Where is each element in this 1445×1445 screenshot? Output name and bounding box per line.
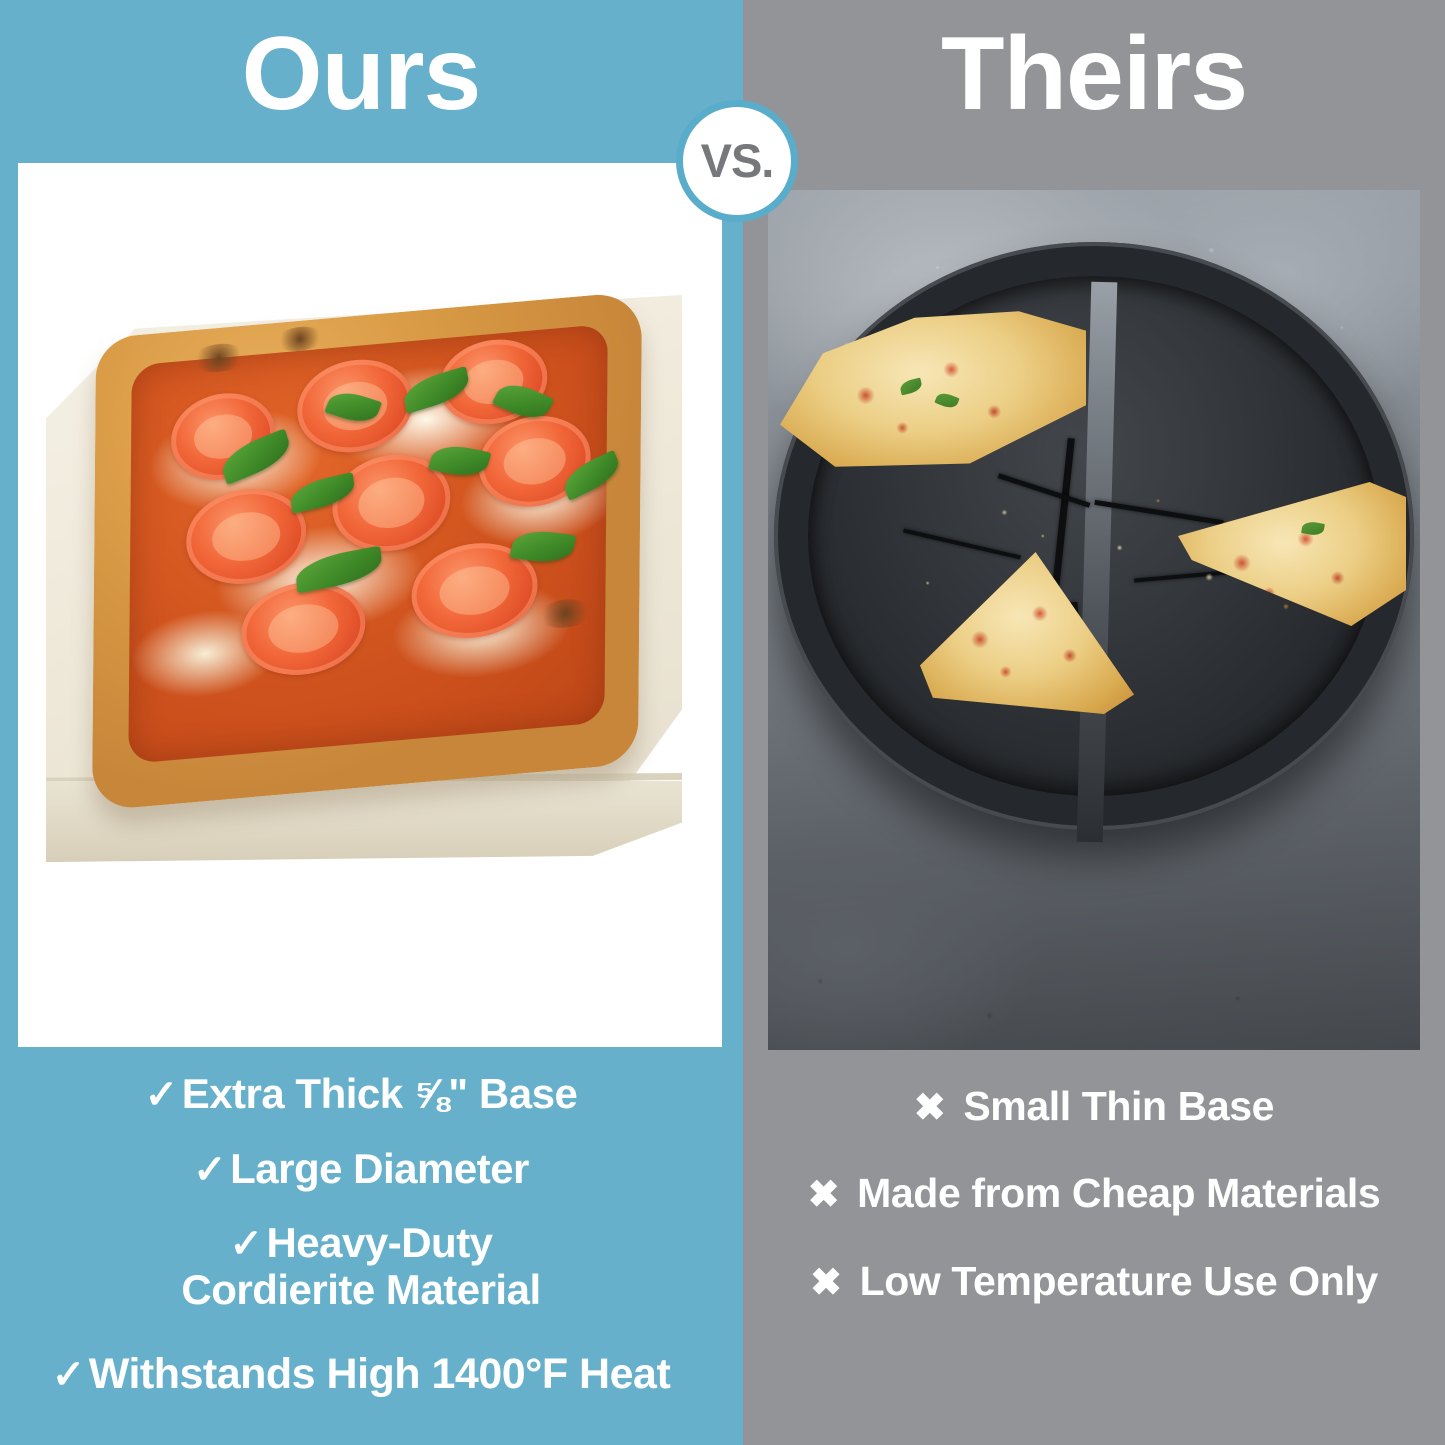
feature-item: ✖ Low Temperature Use Only: [743, 1260, 1445, 1303]
feature-list-theirs: ✖ Small Thin Base ✖ Made from Cheap Mate…: [743, 1085, 1445, 1303]
feature-label: Small Thin Base: [963, 1085, 1274, 1128]
feature-label: Made from Cheap Materials: [857, 1172, 1380, 1215]
product-photo-theirs: [768, 190, 1420, 1050]
cross-icon: ✖: [808, 1175, 839, 1215]
feature-label: Withstands High 1400°F Heat: [89, 1352, 671, 1398]
feature-item: ✖ Made from Cheap Materials: [743, 1172, 1445, 1215]
check-icon: ✓: [145, 1074, 178, 1116]
vs-badge: VS.: [676, 100, 798, 222]
vs-badge-label: VS.: [701, 137, 774, 184]
comparison-infographic: Ours Theirs VS.: [0, 0, 1445, 1445]
feature-item: ✖ Small Thin Base: [743, 1085, 1445, 1128]
feature-item: ✓ Heavy-Duty: [0, 1221, 722, 1266]
check-icon: ✓: [52, 1354, 85, 1396]
heading-ours: Ours: [0, 22, 722, 126]
feature-label-line2: Cordierite Material: [0, 1268, 722, 1313]
cross-icon: ✖: [810, 1263, 841, 1303]
feature-label: Heavy-Duty: [266, 1221, 492, 1266]
heading-theirs: Theirs: [743, 22, 1445, 126]
feature-item: ✓ Withstands High 1400°F Heat: [0, 1352, 722, 1398]
feature-item: ✓ Large Diameter: [0, 1147, 722, 1192]
check-icon: ✓: [229, 1223, 262, 1265]
feature-item: ✓ Extra Thick ⅝" Base: [0, 1072, 722, 1117]
cordierite-stone: [46, 295, 682, 935]
feature-label: Low Temperature Use Only: [860, 1260, 1378, 1303]
feature-list-ours: ✓ Extra Thick ⅝" Base ✓ Large Diameter ✓…: [0, 1072, 722, 1398]
check-icon: ✓: [193, 1149, 226, 1191]
cross-icon: ✖: [914, 1088, 945, 1128]
feature-label: Extra Thick ⅝" Base: [182, 1072, 578, 1117]
product-photo-ours: [18, 163, 722, 1047]
cracked-pizza-pan: [774, 242, 1414, 830]
margherita-pizza: [92, 291, 642, 811]
feature-label: Large Diameter: [230, 1147, 529, 1192]
